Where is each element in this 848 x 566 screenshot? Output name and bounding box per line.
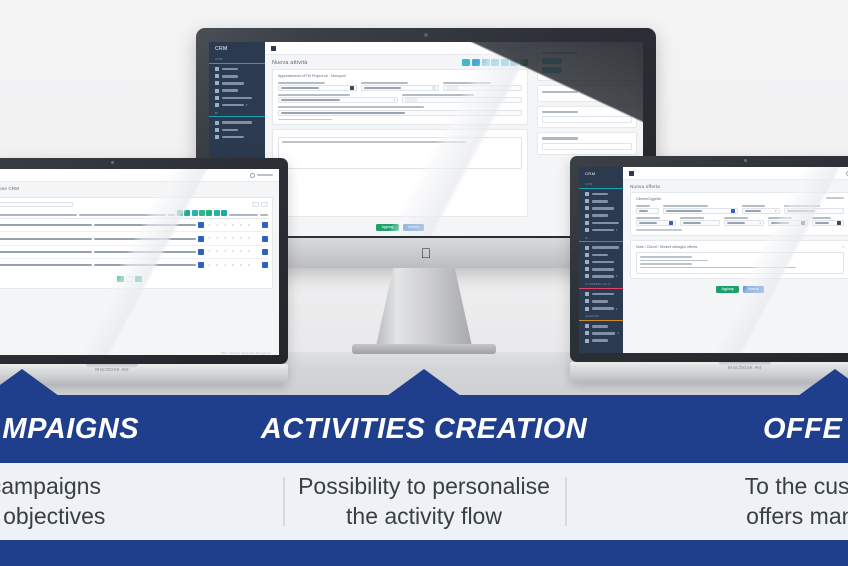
sidebar-item-gestione-bi[interactable]: ▾: [579, 273, 623, 280]
macbook-screen[interactable]: Selezione CRM: [0, 169, 279, 355]
cell-count: -: [254, 250, 260, 253]
macbook-base: MacBook Air: [0, 364, 288, 384]
slide-canvas: CRM CRM ▾ BI: [0, 0, 848, 566]
sidebar-section-agenda: AGENDA: [579, 312, 623, 320]
sidebar-item-label: [592, 193, 608, 196]
cell-date: [94, 238, 196, 240]
activity-icon: [585, 214, 589, 218]
table-row[interactable]: 101000-: [0, 259, 268, 271]
sidebar-section-bi: BI: [579, 234, 623, 242]
field-value: [281, 87, 319, 89]
cell-count: 0: [246, 224, 252, 227]
sidebar-item-ricerca[interactable]: [579, 244, 623, 251]
sidebar-item-gestione[interactable]: ▾: [209, 101, 265, 108]
field-input: [636, 220, 676, 226]
cell-count: -: [254, 224, 260, 227]
export-button[interactable]: [261, 202, 268, 207]
field-input: [443, 85, 522, 91]
panel-title: [542, 52, 578, 54]
user-menu[interactable]: [506, 46, 529, 51]
offers-icon: [215, 96, 219, 100]
user-menu[interactable]: [250, 173, 273, 178]
activity-form-card: Appuntamento MTW Project srl - Monopoli: [272, 69, 528, 125]
macbook-trackpad-notch: [719, 362, 771, 366]
field-select: ▾: [278, 97, 398, 103]
app-brand: CRM: [579, 167, 623, 180]
order-icon: [585, 299, 589, 303]
field-label: [361, 82, 408, 84]
campaign-icon: [585, 206, 589, 210]
sidebar-item-cruscotti[interactable]: [209, 134, 265, 141]
type-icon-meeting[interactable]: [482, 59, 490, 66]
panel-title: [542, 111, 578, 113]
sidebar-item-label: [222, 129, 238, 132]
field-input: [784, 208, 844, 214]
column-header-azienda[interactable]: [0, 214, 77, 216]
results-table: 111000- 112000- 101000- 101000-: [0, 197, 273, 289]
cell-count: 2: [222, 237, 228, 240]
card-title: Cliente/Oggetto: [636, 197, 661, 201]
row-detail-button[interactable]: [198, 236, 204, 242]
role-panel: ▾: [537, 85, 637, 102]
tag-chip[interactable]: [446, 86, 458, 90]
sidebar-item-ordini[interactable]: [579, 298, 623, 305]
chevron-down-icon[interactable]: ▾: [630, 90, 632, 94]
chevron-down-icon: ▾: [616, 228, 618, 232]
cell-count: 0: [214, 264, 220, 267]
chart-icon: [215, 128, 219, 132]
field-azienda[interactable]: ▾: [278, 94, 398, 103]
interaction-icon-3[interactable]: [192, 210, 198, 216]
cell-date: [94, 224, 196, 226]
caption-line-1: campaigns: [0, 473, 101, 499]
field-value: [639, 222, 657, 224]
document-icon: [585, 331, 589, 335]
notes-title: Note / Clienti / Sezioni dettaglio offer…: [636, 245, 697, 249]
note-line: [640, 256, 692, 258]
field-input: [768, 220, 808, 226]
field-probabilita[interactable]: [812, 217, 844, 226]
activity-item[interactable]: [542, 58, 632, 64]
cell-count: -: [254, 237, 260, 240]
step-title-campaigns: CAMPAIGNS: [0, 395, 283, 463]
sidebar-item-label: [222, 104, 244, 107]
price-icon: [585, 292, 589, 296]
sidebar-item-label: [592, 246, 620, 249]
activity-type-toolbar: [462, 59, 528, 66]
lookup-icon[interactable]: [669, 221, 673, 225]
field-label: [724, 217, 748, 219]
cell-date: [94, 251, 196, 253]
field-label: [278, 82, 325, 84]
sidebar-item-label: [222, 68, 238, 71]
note-line: [640, 263, 692, 265]
field-value: [683, 222, 701, 224]
macbook-lid: Selezione CRM: [0, 158, 288, 364]
field-stato-offerta[interactable]: ▾: [724, 217, 764, 226]
field-luogo[interactable]: [784, 205, 844, 214]
interaction-icon-1[interactable]: [177, 210, 183, 216]
crm-table-app: Selezione CRM: [0, 169, 279, 355]
app-footer: CRM - Customer Relationship Management: [0, 349, 279, 355]
sidebar-divider-crm: [209, 63, 265, 64]
imac-stand-foot: [352, 344, 496, 354]
field-value: [771, 222, 789, 224]
add-button[interactable]: Aggiungi: [376, 224, 398, 231]
interaction-icon-4[interactable]: [199, 210, 205, 216]
sidebar-divider-bi: [209, 116, 265, 117]
menu-icon[interactable]: [271, 46, 276, 51]
interaction-icon-columns: [177, 210, 227, 216]
chevron-down-icon: ▾: [616, 307, 618, 311]
sidebar-item-profilo[interactable]: [579, 337, 623, 344]
form-actions: Aggiungi Annulla: [265, 221, 535, 236]
sidebar-item-gestione[interactable]: ▾: [579, 226, 623, 233]
field-input: [278, 85, 357, 91]
field-competenza[interactable]: [636, 217, 676, 226]
sidebar-item-offerte[interactable]: [209, 94, 265, 101]
field-input: [812, 220, 844, 226]
field-label: [636, 205, 650, 207]
field-scadenza[interactable]: [768, 217, 808, 226]
sidebar-item-label: [592, 268, 614, 271]
cell-count: 1: [222, 264, 228, 267]
field-tipo-offerta[interactable]: ▾: [742, 205, 780, 214]
cell-count: -: [254, 264, 260, 267]
cell-count: 1: [206, 224, 212, 227]
sidebar-item-offerte[interactable]: [579, 219, 623, 226]
macbook-base: MacBook Air: [570, 362, 848, 382]
gear-icon: [585, 307, 589, 311]
interests-input[interactable]: [542, 143, 632, 150]
cell-count: 1: [214, 237, 220, 240]
macbook-camera: [744, 159, 747, 162]
note-line: [640, 267, 796, 269]
sidebar-item-campagne[interactable]: [209, 80, 265, 87]
sidebar-item-cruscotti[interactable]: [579, 259, 623, 266]
call-action-button[interactable]: [542, 67, 562, 73]
app-topbar: [265, 42, 535, 55]
sidebar-divider-commerciale: [579, 288, 623, 289]
table-row[interactable]: 111000-: [0, 219, 268, 232]
sidebar-item-listino[interactable]: [579, 291, 623, 298]
field-value: [281, 112, 405, 114]
chevron-down-icon[interactable]: ▾: [630, 51, 632, 55]
sidebar-item-label: [592, 229, 614, 232]
field-value: [281, 99, 340, 101]
sidebar-divider-bi: [579, 241, 623, 242]
avatar: [250, 173, 255, 178]
page-header: Nuova offerta: [623, 180, 848, 192]
sidebar-section-commerciale: COMMERCIALE: [579, 280, 623, 288]
cell-count: 0: [230, 250, 236, 253]
percent-icon[interactable]: [837, 221, 841, 225]
field-value: [815, 222, 829, 224]
sidebar-item-attivita[interactable]: [579, 212, 623, 219]
app-sidebar: CRM CRM ▾ BI: [579, 167, 623, 353]
step-title-text: CAMPAIGNS: [0, 413, 139, 446]
apple-logo-icon: : [421, 246, 432, 260]
sidebar-item-azienda[interactable]: [579, 191, 623, 198]
sidebar-item-ricerca[interactable]: [209, 119, 265, 126]
field-durata[interactable]: [361, 82, 440, 91]
field-value: [666, 210, 702, 212]
caption-campaigns: campaigns s objectives: [0, 463, 283, 540]
gear-icon: [585, 274, 589, 278]
cell-count: 0: [246, 264, 252, 267]
cell-company: [0, 251, 92, 253]
note-line: [282, 141, 466, 143]
page-title: Selezione CRM: [0, 186, 19, 191]
sidebar-item-label: [222, 89, 238, 92]
sidebar-item-contatti[interactable]: [579, 198, 623, 205]
field-codice[interactable]: [636, 205, 659, 214]
row-detail-button[interactable]: [198, 262, 204, 268]
note-line: [640, 260, 708, 262]
app-topbar: [0, 169, 279, 182]
page-current[interactable]: [126, 276, 133, 282]
type-icon-mail[interactable]: [501, 59, 509, 66]
activity-item[interactable]: [542, 67, 632, 73]
field-attenzioni[interactable]: [443, 82, 522, 91]
device-photo-area: CRM CRM ▾ BI: [0, 0, 848, 395]
caption-line-2: the activity flow: [346, 503, 502, 529]
field-label: [742, 205, 765, 207]
cell-count: 0: [230, 237, 236, 240]
macbook-left: Selezione CRM: [0, 158, 288, 384]
contact-chip[interactable]: [405, 98, 417, 102]
macbook-right: CRM CRM ▾ BI: [570, 156, 848, 382]
function-icon: [585, 267, 589, 271]
column-header-prodotto[interactable]: [79, 214, 166, 216]
panel-header: ▾: [542, 51, 632, 55]
field-label: [402, 94, 474, 96]
chevron-down-icon: ▾: [246, 103, 248, 107]
sidebar-item-label: [592, 254, 608, 257]
step-captions-row: campaigns s objectives Possibility to pe…: [0, 463, 848, 540]
form-actions: Aggiungi Annulla: [623, 283, 848, 298]
field-select: ▾: [724, 220, 764, 226]
sidebar-item-campagne[interactable]: [579, 205, 623, 212]
chevron-down-icon[interactable]: ▾: [842, 245, 844, 249]
cancel-button[interactable]: Annulla: [403, 224, 424, 231]
page-next-button[interactable]: [135, 276, 142, 282]
sidebar-item-label: [592, 275, 614, 278]
sidebar-item-label: [592, 261, 614, 264]
field-input: [636, 208, 659, 214]
chevron-down-icon: ▾: [759, 221, 761, 225]
interaction-icon-5[interactable]: [206, 210, 212, 216]
sidebar-item-eventi[interactable]: [579, 323, 623, 330]
sidebar-item-label: [592, 293, 614, 296]
row-action-button[interactable]: [262, 236, 268, 242]
chevron-down-icon: ▾: [617, 331, 619, 335]
sidebar-item-contatti[interactable]: [209, 73, 265, 80]
table-toolbar: [0, 202, 268, 207]
field-azienda[interactable]: [663, 205, 738, 214]
app-topbar: [623, 167, 848, 180]
caption-line-1: Possibility to personalise: [298, 473, 550, 499]
chart-icon: [585, 253, 589, 257]
sidebar-item-label: [592, 300, 608, 303]
field-contatti[interactable]: [402, 94, 522, 103]
step-title-activities-creation: ACTIVITIES CREATION: [283, 395, 566, 463]
panel-title: [542, 91, 578, 93]
field-select: [663, 208, 738, 214]
step-title-text: OFFE: [763, 413, 842, 446]
previous-activities-panel: ▾: [537, 46, 637, 81]
field-select: ▾: [742, 208, 780, 214]
field-label: [278, 106, 424, 108]
cell-count: 0: [230, 224, 236, 227]
offer-form-card: Cliente/Oggetto ▾: [630, 192, 848, 236]
sidebar-item-documentazione[interactable]: ▾: [579, 330, 623, 337]
cell-count: 0: [246, 250, 252, 253]
sidebar-item-label: [592, 307, 614, 310]
app-brand: CRM: [209, 42, 265, 55]
user-icon: [585, 339, 589, 343]
sidebar-item-attivita[interactable]: [209, 87, 265, 94]
column-header-esito[interactable]: [260, 214, 268, 216]
field-input: [361, 85, 440, 91]
search-icon: [585, 246, 589, 250]
type-icon-task[interactable]: [491, 59, 499, 66]
form-row-2: ▾: [278, 94, 522, 103]
page-title: Nuova attività: [272, 60, 307, 66]
offers-icon: [585, 221, 589, 225]
bottom-blue-bar: [0, 540, 848, 566]
cell-count: 1: [206, 237, 212, 240]
table-controls: [252, 202, 268, 207]
row-detail-button[interactable]: [198, 222, 204, 228]
row-action-button[interactable]: [262, 249, 268, 255]
caption-line-1: To the custo: [745, 473, 848, 499]
cell-company: [0, 224, 92, 226]
chevron-down-icon: ▾: [393, 98, 395, 102]
field-titolo[interactable]: [680, 217, 720, 226]
type-icon-note[interactable]: [510, 59, 518, 66]
notes-textarea[interactable]: [636, 252, 844, 274]
macbook-screen[interactable]: CRM CRM ▾ BI: [579, 167, 848, 353]
app-main: Nuova offerta Cliente/Oggetto: [623, 167, 848, 353]
search-icon: [215, 121, 219, 125]
field-label: [636, 217, 660, 219]
form-row-2: ▾: [636, 217, 844, 226]
cell-count: 1: [214, 224, 220, 227]
field-input: [278, 110, 522, 116]
dashboard-icon: [215, 135, 219, 139]
page-title: Nuova offerta: [630, 184, 660, 189]
caption-text: Possibility to personalise the activity …: [298, 472, 550, 531]
cancel-button[interactable]: Annulla: [743, 286, 764, 293]
table-row[interactable]: 112000-: [0, 232, 268, 245]
interaction-icon-2[interactable]: [184, 210, 190, 216]
sidebar-item-funzioni[interactable]: [579, 266, 623, 273]
cell-count: 0: [246, 237, 252, 240]
sidebar-item-azienda[interactable]: [209, 66, 265, 73]
column-header-contatto[interactable]: [229, 214, 258, 216]
sidebar-item-label: [592, 332, 615, 335]
user-name-label: [257, 174, 273, 176]
field-label: [812, 217, 831, 219]
offer-notes-card: Note / Clienti / Sezioni dettaglio offer…: [630, 240, 848, 280]
caption-text: To the custo offers mana: [745, 472, 848, 531]
activity-icon: [215, 89, 219, 93]
app-main: Nuova attività: [265, 42, 535, 236]
sidebar-item-gestione-comm[interactable]: ▾: [579, 305, 623, 312]
interaction-icon-6[interactable]: [214, 210, 220, 216]
type-icon-call[interactable]: [472, 59, 480, 66]
field-data-previsione[interactable]: [278, 82, 357, 91]
field-input: [402, 97, 522, 103]
sidebar-item-label: [222, 82, 244, 85]
table-row[interactable]: 101000-: [0, 246, 268, 259]
sidebar-divider-crm: [579, 188, 623, 189]
card-title: Appuntamento MTW Project srl - Monopoli: [278, 74, 522, 78]
cell-company: [0, 238, 92, 240]
field-label: [680, 217, 704, 219]
cell-count: 1: [222, 250, 228, 253]
row-detail-button[interactable]: [198, 249, 204, 255]
field-input: [680, 220, 720, 226]
add-button[interactable]: Aggiungi: [716, 286, 738, 293]
interaction-icon-7[interactable]: [221, 210, 227, 216]
field-value: [364, 87, 402, 89]
sidebar-item-report[interactable]: [209, 126, 265, 133]
dashboard-icon: [585, 260, 589, 264]
row-action-button[interactable]: [262, 262, 268, 268]
field-label: [278, 94, 350, 96]
sidebar-item-label: [222, 136, 244, 139]
field-luogo[interactable]: [278, 106, 522, 115]
cell-company: [0, 264, 92, 266]
notes-textarea[interactable]: [278, 137, 522, 169]
panel-header: ▾: [542, 90, 632, 94]
required-note: [278, 119, 332, 121]
menu-icon[interactable]: [629, 171, 634, 176]
type-icon-other[interactable]: [520, 59, 528, 66]
gear-icon: [215, 103, 219, 107]
sidebar-item-label: [592, 214, 608, 217]
building-icon: [215, 67, 219, 71]
sidebar-item-report[interactable]: [579, 251, 623, 258]
cell-count: 0: [214, 250, 220, 253]
sidebar-item-label: [222, 97, 252, 100]
sidebar-section-crm: CRM: [209, 55, 265, 63]
chevron-down-icon: ▾: [775, 209, 777, 213]
pagination: [0, 272, 268, 284]
cell-count: 0: [230, 264, 236, 267]
type-icon-info[interactable]: [462, 59, 470, 66]
clock-icon[interactable]: [432, 86, 436, 90]
cell-count: 0: [238, 264, 244, 267]
row-action-button[interactable]: [262, 222, 268, 228]
call-action-button[interactable]: [542, 58, 562, 64]
contacts-icon: [215, 74, 219, 78]
search-input[interactable]: [0, 202, 73, 207]
field-label: [663, 205, 708, 207]
page-size-select[interactable]: [252, 202, 259, 207]
calendar-icon[interactable]: [801, 221, 805, 225]
caption-offers: To the custo offers mana: [565, 463, 848, 540]
column-header-dettaglio[interactable]: [168, 214, 175, 216]
macbook-camera: [111, 161, 114, 164]
calendar-icon[interactable]: [350, 86, 354, 90]
step-title-offers: OFFE: [565, 395, 848, 463]
lookup-icon[interactable]: [731, 209, 735, 213]
url-input[interactable]: [542, 116, 632, 123]
page-prev-button[interactable]: [117, 276, 124, 282]
